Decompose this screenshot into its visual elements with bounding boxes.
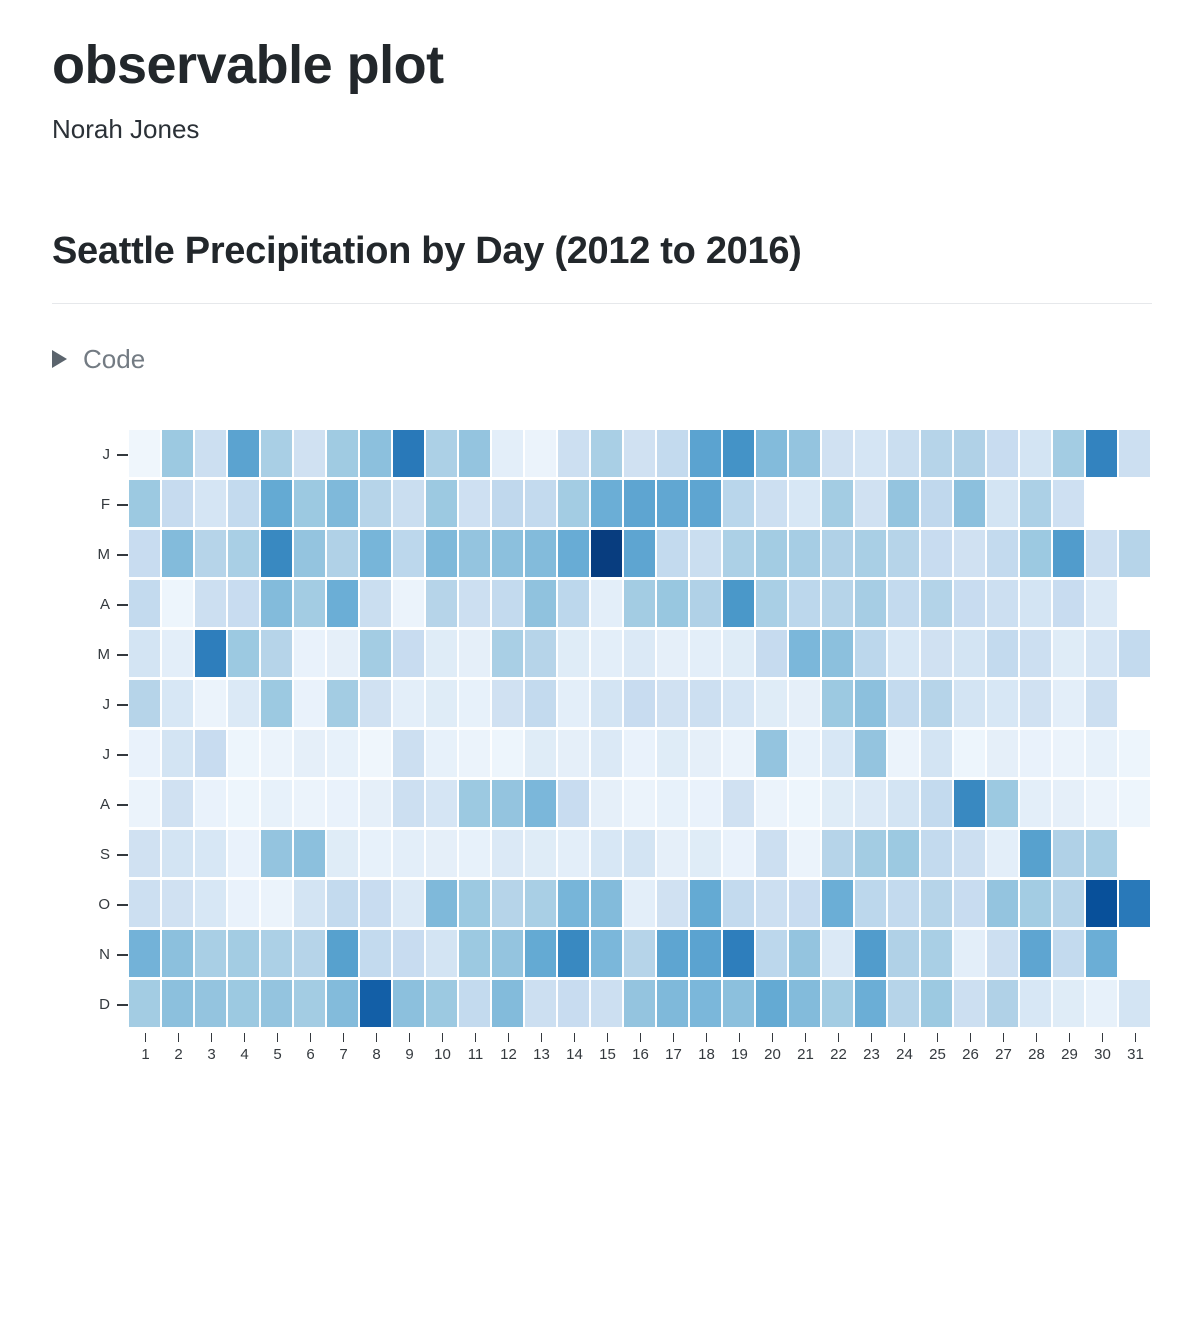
heatmap-cell[interactable] <box>657 580 688 627</box>
heatmap-cell[interactable] <box>1119 630 1150 677</box>
heatmap-cell[interactable] <box>294 880 325 927</box>
heatmap-cell[interactable] <box>789 430 820 477</box>
heatmap-cell[interactable] <box>492 580 523 627</box>
heatmap-cell[interactable] <box>492 980 523 1027</box>
heatmap-cell[interactable] <box>195 580 226 627</box>
heatmap-cell[interactable] <box>294 430 325 477</box>
heatmap-cell[interactable] <box>855 680 886 727</box>
heatmap-cell[interactable] <box>426 430 457 477</box>
heatmap-cell[interactable] <box>459 430 490 477</box>
heatmap-cell[interactable] <box>1020 980 1051 1027</box>
heatmap-cell[interactable] <box>1053 680 1084 727</box>
heatmap-cell[interactable] <box>954 580 985 627</box>
heatmap-cell[interactable] <box>987 530 1018 577</box>
heatmap-cell[interactable] <box>525 980 556 1027</box>
heatmap-cell[interactable] <box>822 930 853 977</box>
heatmap-cell[interactable] <box>591 430 622 477</box>
heatmap-cell[interactable] <box>558 780 589 827</box>
heatmap-cell[interactable] <box>1086 780 1117 827</box>
heatmap-cell[interactable] <box>162 480 193 527</box>
heatmap-cell[interactable] <box>162 730 193 777</box>
heatmap-cell[interactable] <box>228 530 259 577</box>
heatmap-cell[interactable] <box>657 880 688 927</box>
heatmap-cell[interactable] <box>756 630 787 677</box>
heatmap-cell[interactable] <box>327 930 358 977</box>
heatmap-cell[interactable] <box>888 530 919 577</box>
heatmap-cell[interactable] <box>459 980 490 1027</box>
heatmap-cell[interactable] <box>360 930 391 977</box>
heatmap-cell[interactable] <box>1020 630 1051 677</box>
heatmap-cell[interactable] <box>591 980 622 1027</box>
heatmap-cell[interactable] <box>492 830 523 877</box>
heatmap-cell[interactable] <box>921 680 952 727</box>
heatmap-cell[interactable] <box>525 780 556 827</box>
heatmap-cell[interactable] <box>591 730 622 777</box>
heatmap-cell[interactable] <box>657 730 688 777</box>
heatmap-cell[interactable] <box>690 430 721 477</box>
heatmap-cell[interactable] <box>789 980 820 1027</box>
heatmap-cell[interactable] <box>1020 830 1051 877</box>
heatmap-cell[interactable] <box>822 530 853 577</box>
heatmap-cell[interactable] <box>690 780 721 827</box>
heatmap-cell[interactable] <box>1053 630 1084 677</box>
heatmap-cell[interactable] <box>624 930 655 977</box>
heatmap-cell[interactable] <box>690 830 721 877</box>
heatmap-cell[interactable] <box>855 580 886 627</box>
heatmap-cell[interactable] <box>294 630 325 677</box>
heatmap-cell[interactable] <box>921 480 952 527</box>
heatmap-cell[interactable] <box>822 830 853 877</box>
heatmap-cell[interactable] <box>1086 880 1117 927</box>
heatmap-cell[interactable] <box>1086 830 1117 877</box>
heatmap-cell[interactable] <box>426 980 457 1027</box>
heatmap-cell[interactable] <box>1086 430 1117 477</box>
heatmap-cell[interactable] <box>657 680 688 727</box>
heatmap-cell[interactable] <box>360 430 391 477</box>
heatmap-cell[interactable] <box>1020 430 1051 477</box>
heatmap-cell[interactable] <box>426 480 457 527</box>
heatmap-cell[interactable] <box>327 580 358 627</box>
heatmap-cell[interactable] <box>261 930 292 977</box>
heatmap-cell[interactable] <box>723 830 754 877</box>
heatmap-cell[interactable] <box>393 430 424 477</box>
heatmap-cell[interactable] <box>822 980 853 1027</box>
heatmap-cell[interactable] <box>1086 730 1117 777</box>
heatmap-cell[interactable] <box>954 480 985 527</box>
heatmap-cell[interactable] <box>987 830 1018 877</box>
heatmap-cell[interactable] <box>954 830 985 877</box>
heatmap-cell[interactable] <box>789 530 820 577</box>
heatmap-cell[interactable] <box>690 480 721 527</box>
heatmap-cell[interactable] <box>558 630 589 677</box>
heatmap-cell[interactable] <box>492 730 523 777</box>
heatmap-cell[interactable] <box>525 530 556 577</box>
heatmap-cell[interactable] <box>888 680 919 727</box>
heatmap-cell[interactable] <box>855 730 886 777</box>
heatmap-cell[interactable] <box>657 830 688 877</box>
heatmap-cell[interactable] <box>855 880 886 927</box>
heatmap-cell[interactable] <box>591 580 622 627</box>
heatmap-cell[interactable] <box>987 730 1018 777</box>
heatmap-cell[interactable] <box>1053 830 1084 877</box>
heatmap-cell[interactable] <box>162 930 193 977</box>
heatmap-cell[interactable] <box>261 980 292 1027</box>
heatmap-cell[interactable] <box>954 980 985 1027</box>
heatmap-cell[interactable] <box>1086 930 1117 977</box>
heatmap-cell[interactable] <box>657 630 688 677</box>
heatmap-cell[interactable] <box>591 780 622 827</box>
heatmap-cell[interactable] <box>195 880 226 927</box>
heatmap-cell[interactable] <box>690 580 721 627</box>
heatmap-cell[interactable] <box>261 730 292 777</box>
heatmap-cell[interactable] <box>459 630 490 677</box>
heatmap-cell[interactable] <box>1086 630 1117 677</box>
heatmap-cell[interactable] <box>393 980 424 1027</box>
heatmap-cell[interactable] <box>393 680 424 727</box>
heatmap-cell[interactable] <box>162 530 193 577</box>
heatmap-cell[interactable] <box>261 480 292 527</box>
heatmap-cell[interactable] <box>327 680 358 727</box>
heatmap-cell[interactable] <box>327 480 358 527</box>
heatmap-cell[interactable] <box>426 680 457 727</box>
heatmap-cell[interactable] <box>888 880 919 927</box>
heatmap-cell[interactable] <box>921 730 952 777</box>
heatmap-cell[interactable] <box>129 580 160 627</box>
heatmap-cell[interactable] <box>921 580 952 627</box>
heatmap-cell[interactable] <box>162 780 193 827</box>
heatmap-cell[interactable] <box>360 680 391 727</box>
heatmap-cell[interactable] <box>756 680 787 727</box>
heatmap-cell[interactable] <box>657 980 688 1027</box>
heatmap-cell[interactable] <box>327 830 358 877</box>
heatmap-cell[interactable] <box>855 630 886 677</box>
heatmap-cell[interactable] <box>921 830 952 877</box>
heatmap-cell[interactable] <box>624 630 655 677</box>
heatmap-cell[interactable] <box>855 780 886 827</box>
heatmap-cell[interactable] <box>492 530 523 577</box>
heatmap-cell[interactable] <box>987 630 1018 677</box>
heatmap-cell[interactable] <box>492 780 523 827</box>
heatmap-cell[interactable] <box>228 630 259 677</box>
heatmap-cell[interactable] <box>723 930 754 977</box>
heatmap-cell[interactable] <box>690 980 721 1027</box>
heatmap-cell[interactable] <box>360 480 391 527</box>
heatmap-cell[interactable] <box>129 630 160 677</box>
heatmap-cell[interactable] <box>888 930 919 977</box>
heatmap-cell[interactable] <box>360 880 391 927</box>
heatmap-cell[interactable] <box>228 780 259 827</box>
heatmap-cell[interactable] <box>987 480 1018 527</box>
heatmap-cell[interactable] <box>261 880 292 927</box>
heatmap-cell[interactable] <box>228 830 259 877</box>
heatmap-cell[interactable] <box>954 630 985 677</box>
heatmap-cell[interactable] <box>558 980 589 1027</box>
heatmap-cell[interactable] <box>987 680 1018 727</box>
heatmap-cell[interactable] <box>591 830 622 877</box>
heatmap-cell[interactable] <box>624 830 655 877</box>
heatmap-cell[interactable] <box>822 780 853 827</box>
heatmap-cell[interactable] <box>987 880 1018 927</box>
heatmap-cell[interactable] <box>789 830 820 877</box>
heatmap-cell[interactable] <box>459 730 490 777</box>
heatmap-cell[interactable] <box>162 680 193 727</box>
heatmap-cell[interactable] <box>822 880 853 927</box>
heatmap-cell[interactable] <box>1119 730 1150 777</box>
heatmap-cell[interactable] <box>492 430 523 477</box>
heatmap-cell[interactable] <box>1053 580 1084 627</box>
heatmap-cell[interactable] <box>822 430 853 477</box>
heatmap-cell[interactable] <box>789 730 820 777</box>
heatmap-cell[interactable] <box>360 580 391 627</box>
heatmap-cell[interactable] <box>756 930 787 977</box>
heatmap-cell[interactable] <box>690 730 721 777</box>
heatmap-cell[interactable] <box>1020 780 1051 827</box>
heatmap-cell[interactable] <box>789 780 820 827</box>
heatmap-cell[interactable] <box>195 630 226 677</box>
heatmap-cell[interactable] <box>228 880 259 927</box>
heatmap-cell[interactable] <box>921 880 952 927</box>
heatmap-cell[interactable] <box>1053 480 1084 527</box>
heatmap-cell[interactable] <box>954 780 985 827</box>
heatmap-cell[interactable] <box>591 530 622 577</box>
heatmap-cell[interactable] <box>624 730 655 777</box>
heatmap-cell[interactable] <box>327 980 358 1027</box>
heatmap-cell[interactable] <box>756 980 787 1027</box>
heatmap-cell[interactable] <box>360 830 391 877</box>
heatmap-cell[interactable] <box>294 680 325 727</box>
heatmap-cell[interactable] <box>1086 980 1117 1027</box>
heatmap-cell[interactable] <box>162 430 193 477</box>
heatmap-cell[interactable] <box>129 930 160 977</box>
heatmap-cell[interactable] <box>228 680 259 727</box>
heatmap-cell[interactable] <box>756 780 787 827</box>
heatmap-cell[interactable] <box>459 530 490 577</box>
heatmap-cell[interactable] <box>525 630 556 677</box>
heatmap-cell[interactable] <box>888 830 919 877</box>
heatmap-cell[interactable] <box>294 980 325 1027</box>
heatmap-cell[interactable] <box>327 880 358 927</box>
heatmap-cell[interactable] <box>327 630 358 677</box>
heatmap-cell[interactable] <box>954 880 985 927</box>
heatmap-cell[interactable] <box>294 730 325 777</box>
heatmap-cell[interactable] <box>492 930 523 977</box>
heatmap-cell[interactable] <box>855 530 886 577</box>
heatmap-cell[interactable] <box>525 680 556 727</box>
heatmap-cell[interactable] <box>921 980 952 1027</box>
heatmap-cell[interactable] <box>921 430 952 477</box>
heatmap-cell[interactable] <box>756 830 787 877</box>
heatmap-cell[interactable] <box>360 780 391 827</box>
heatmap-cell[interactable] <box>1020 480 1051 527</box>
heatmap-cell[interactable] <box>624 530 655 577</box>
heatmap-cell[interactable] <box>624 780 655 827</box>
heatmap-cell[interactable] <box>426 630 457 677</box>
heatmap-cell[interactable] <box>393 580 424 627</box>
heatmap-cell[interactable] <box>987 930 1018 977</box>
heatmap-cell[interactable] <box>294 830 325 877</box>
heatmap-cell[interactable] <box>558 830 589 877</box>
heatmap-cell[interactable] <box>756 580 787 627</box>
heatmap-cell[interactable] <box>624 980 655 1027</box>
heatmap-cell[interactable] <box>591 630 622 677</box>
heatmap-cell[interactable] <box>789 580 820 627</box>
heatmap-cell[interactable] <box>492 680 523 727</box>
heatmap-cell[interactable] <box>1119 880 1150 927</box>
heatmap-cell[interactable] <box>129 530 160 577</box>
heatmap-cell[interactable] <box>789 930 820 977</box>
heatmap-cell[interactable] <box>525 880 556 927</box>
heatmap-cell[interactable] <box>624 430 655 477</box>
heatmap-cell[interactable] <box>162 630 193 677</box>
heatmap-cell[interactable] <box>525 580 556 627</box>
heatmap-cell[interactable] <box>954 680 985 727</box>
heatmap-cell[interactable] <box>228 430 259 477</box>
heatmap-cell[interactable] <box>558 480 589 527</box>
heatmap-cell[interactable] <box>426 930 457 977</box>
heatmap-cell[interactable] <box>228 980 259 1027</box>
heatmap-cell[interactable] <box>459 680 490 727</box>
heatmap-cell[interactable] <box>327 780 358 827</box>
heatmap-cell[interactable] <box>525 830 556 877</box>
heatmap-cell[interactable] <box>723 780 754 827</box>
heatmap-cell[interactable] <box>1053 530 1084 577</box>
heatmap-cell[interactable] <box>855 930 886 977</box>
heatmap-cell[interactable] <box>426 880 457 927</box>
heatmap-cell[interactable] <box>888 580 919 627</box>
heatmap-cell[interactable] <box>888 630 919 677</box>
heatmap-cell[interactable] <box>162 830 193 877</box>
heatmap-cell[interactable] <box>756 730 787 777</box>
heatmap-cell[interactable] <box>261 430 292 477</box>
heatmap-cell[interactable] <box>657 530 688 577</box>
code-disclosure-toggle[interactable]: Code <box>52 346 202 372</box>
heatmap-cell[interactable] <box>1053 980 1084 1027</box>
heatmap-cell[interactable] <box>1119 980 1150 1027</box>
heatmap-cell[interactable] <box>1020 680 1051 727</box>
heatmap-cell[interactable] <box>789 630 820 677</box>
heatmap-cell[interactable] <box>789 880 820 927</box>
heatmap-cell[interactable] <box>1086 530 1117 577</box>
heatmap-cell[interactable] <box>1086 680 1117 727</box>
heatmap-cell[interactable] <box>1086 580 1117 627</box>
heatmap-cell[interactable] <box>822 480 853 527</box>
heatmap-cell[interactable] <box>129 980 160 1027</box>
heatmap-cell[interactable] <box>129 730 160 777</box>
heatmap-cell[interactable] <box>657 480 688 527</box>
heatmap-cell[interactable] <box>591 930 622 977</box>
heatmap-cell[interactable] <box>1053 730 1084 777</box>
heatmap-cell[interactable] <box>129 480 160 527</box>
heatmap-cell[interactable] <box>690 630 721 677</box>
heatmap-cell[interactable] <box>756 480 787 527</box>
heatmap-cell[interactable] <box>261 830 292 877</box>
heatmap-cell[interactable] <box>954 930 985 977</box>
heatmap-cell[interactable] <box>822 630 853 677</box>
heatmap-cell[interactable] <box>261 680 292 727</box>
heatmap-cell[interactable] <box>624 880 655 927</box>
heatmap-cell[interactable] <box>393 480 424 527</box>
heatmap-cell[interactable] <box>360 530 391 577</box>
heatmap-cell[interactable] <box>525 480 556 527</box>
heatmap-cell[interactable] <box>558 880 589 927</box>
heatmap-cell[interactable] <box>195 430 226 477</box>
heatmap-cell[interactable] <box>822 680 853 727</box>
heatmap-cell[interactable] <box>1020 930 1051 977</box>
heatmap-cell[interactable] <box>294 530 325 577</box>
heatmap-cell[interactable] <box>195 780 226 827</box>
heatmap-cell[interactable] <box>426 780 457 827</box>
heatmap-cell[interactable] <box>558 730 589 777</box>
heatmap-cell[interactable] <box>492 880 523 927</box>
heatmap-cell[interactable] <box>261 530 292 577</box>
heatmap-cell[interactable] <box>129 430 160 477</box>
heatmap-cell[interactable] <box>1053 930 1084 977</box>
heatmap-cell[interactable] <box>426 580 457 627</box>
heatmap-cell[interactable] <box>162 880 193 927</box>
heatmap-cell[interactable] <box>987 580 1018 627</box>
heatmap-cell[interactable] <box>327 730 358 777</box>
heatmap-cell[interactable] <box>459 830 490 877</box>
heatmap-cell[interactable] <box>525 430 556 477</box>
heatmap-cell[interactable] <box>327 430 358 477</box>
heatmap-cell[interactable] <box>987 780 1018 827</box>
heatmap-cell[interactable] <box>888 780 919 827</box>
heatmap-cell[interactable] <box>195 730 226 777</box>
heatmap-cell[interactable] <box>822 580 853 627</box>
heatmap-cell[interactable] <box>723 680 754 727</box>
heatmap-cell[interactable] <box>393 730 424 777</box>
heatmap-cell[interactable] <box>228 730 259 777</box>
heatmap-cell[interactable] <box>591 680 622 727</box>
heatmap-cell[interactable] <box>393 530 424 577</box>
heatmap-cell[interactable] <box>954 530 985 577</box>
heatmap-cell[interactable] <box>129 880 160 927</box>
heatmap-cell[interactable] <box>591 480 622 527</box>
heatmap-cell[interactable] <box>723 530 754 577</box>
heatmap-cell[interactable] <box>657 930 688 977</box>
heatmap-cell[interactable] <box>360 730 391 777</box>
heatmap-cell[interactable] <box>129 680 160 727</box>
heatmap-cell[interactable] <box>723 480 754 527</box>
heatmap-cell[interactable] <box>558 580 589 627</box>
heatmap-cell[interactable] <box>657 430 688 477</box>
heatmap-cell[interactable] <box>1119 430 1150 477</box>
heatmap-cell[interactable] <box>1020 730 1051 777</box>
heatmap-cell[interactable] <box>129 780 160 827</box>
heatmap-cell[interactable] <box>954 430 985 477</box>
heatmap-cell[interactable] <box>492 630 523 677</box>
heatmap-cell[interactable] <box>294 580 325 627</box>
heatmap-cell[interactable] <box>987 980 1018 1027</box>
heatmap-cell[interactable] <box>261 630 292 677</box>
heatmap-cell[interactable] <box>690 930 721 977</box>
heatmap-cell[interactable] <box>195 930 226 977</box>
heatmap-cell[interactable] <box>294 930 325 977</box>
heatmap-cell[interactable] <box>690 530 721 577</box>
heatmap-cell[interactable] <box>393 780 424 827</box>
heatmap-cell[interactable] <box>657 780 688 827</box>
heatmap-cell[interactable] <box>228 930 259 977</box>
heatmap-cell[interactable] <box>195 980 226 1027</box>
heatmap-cell[interactable] <box>162 980 193 1027</box>
heatmap-cell[interactable] <box>393 930 424 977</box>
heatmap-cell[interactable] <box>393 630 424 677</box>
heatmap-cell[interactable] <box>624 680 655 727</box>
heatmap-cell[interactable] <box>921 930 952 977</box>
heatmap-cell[interactable] <box>1053 780 1084 827</box>
heatmap-cell[interactable] <box>624 480 655 527</box>
heatmap-cell[interactable] <box>789 680 820 727</box>
